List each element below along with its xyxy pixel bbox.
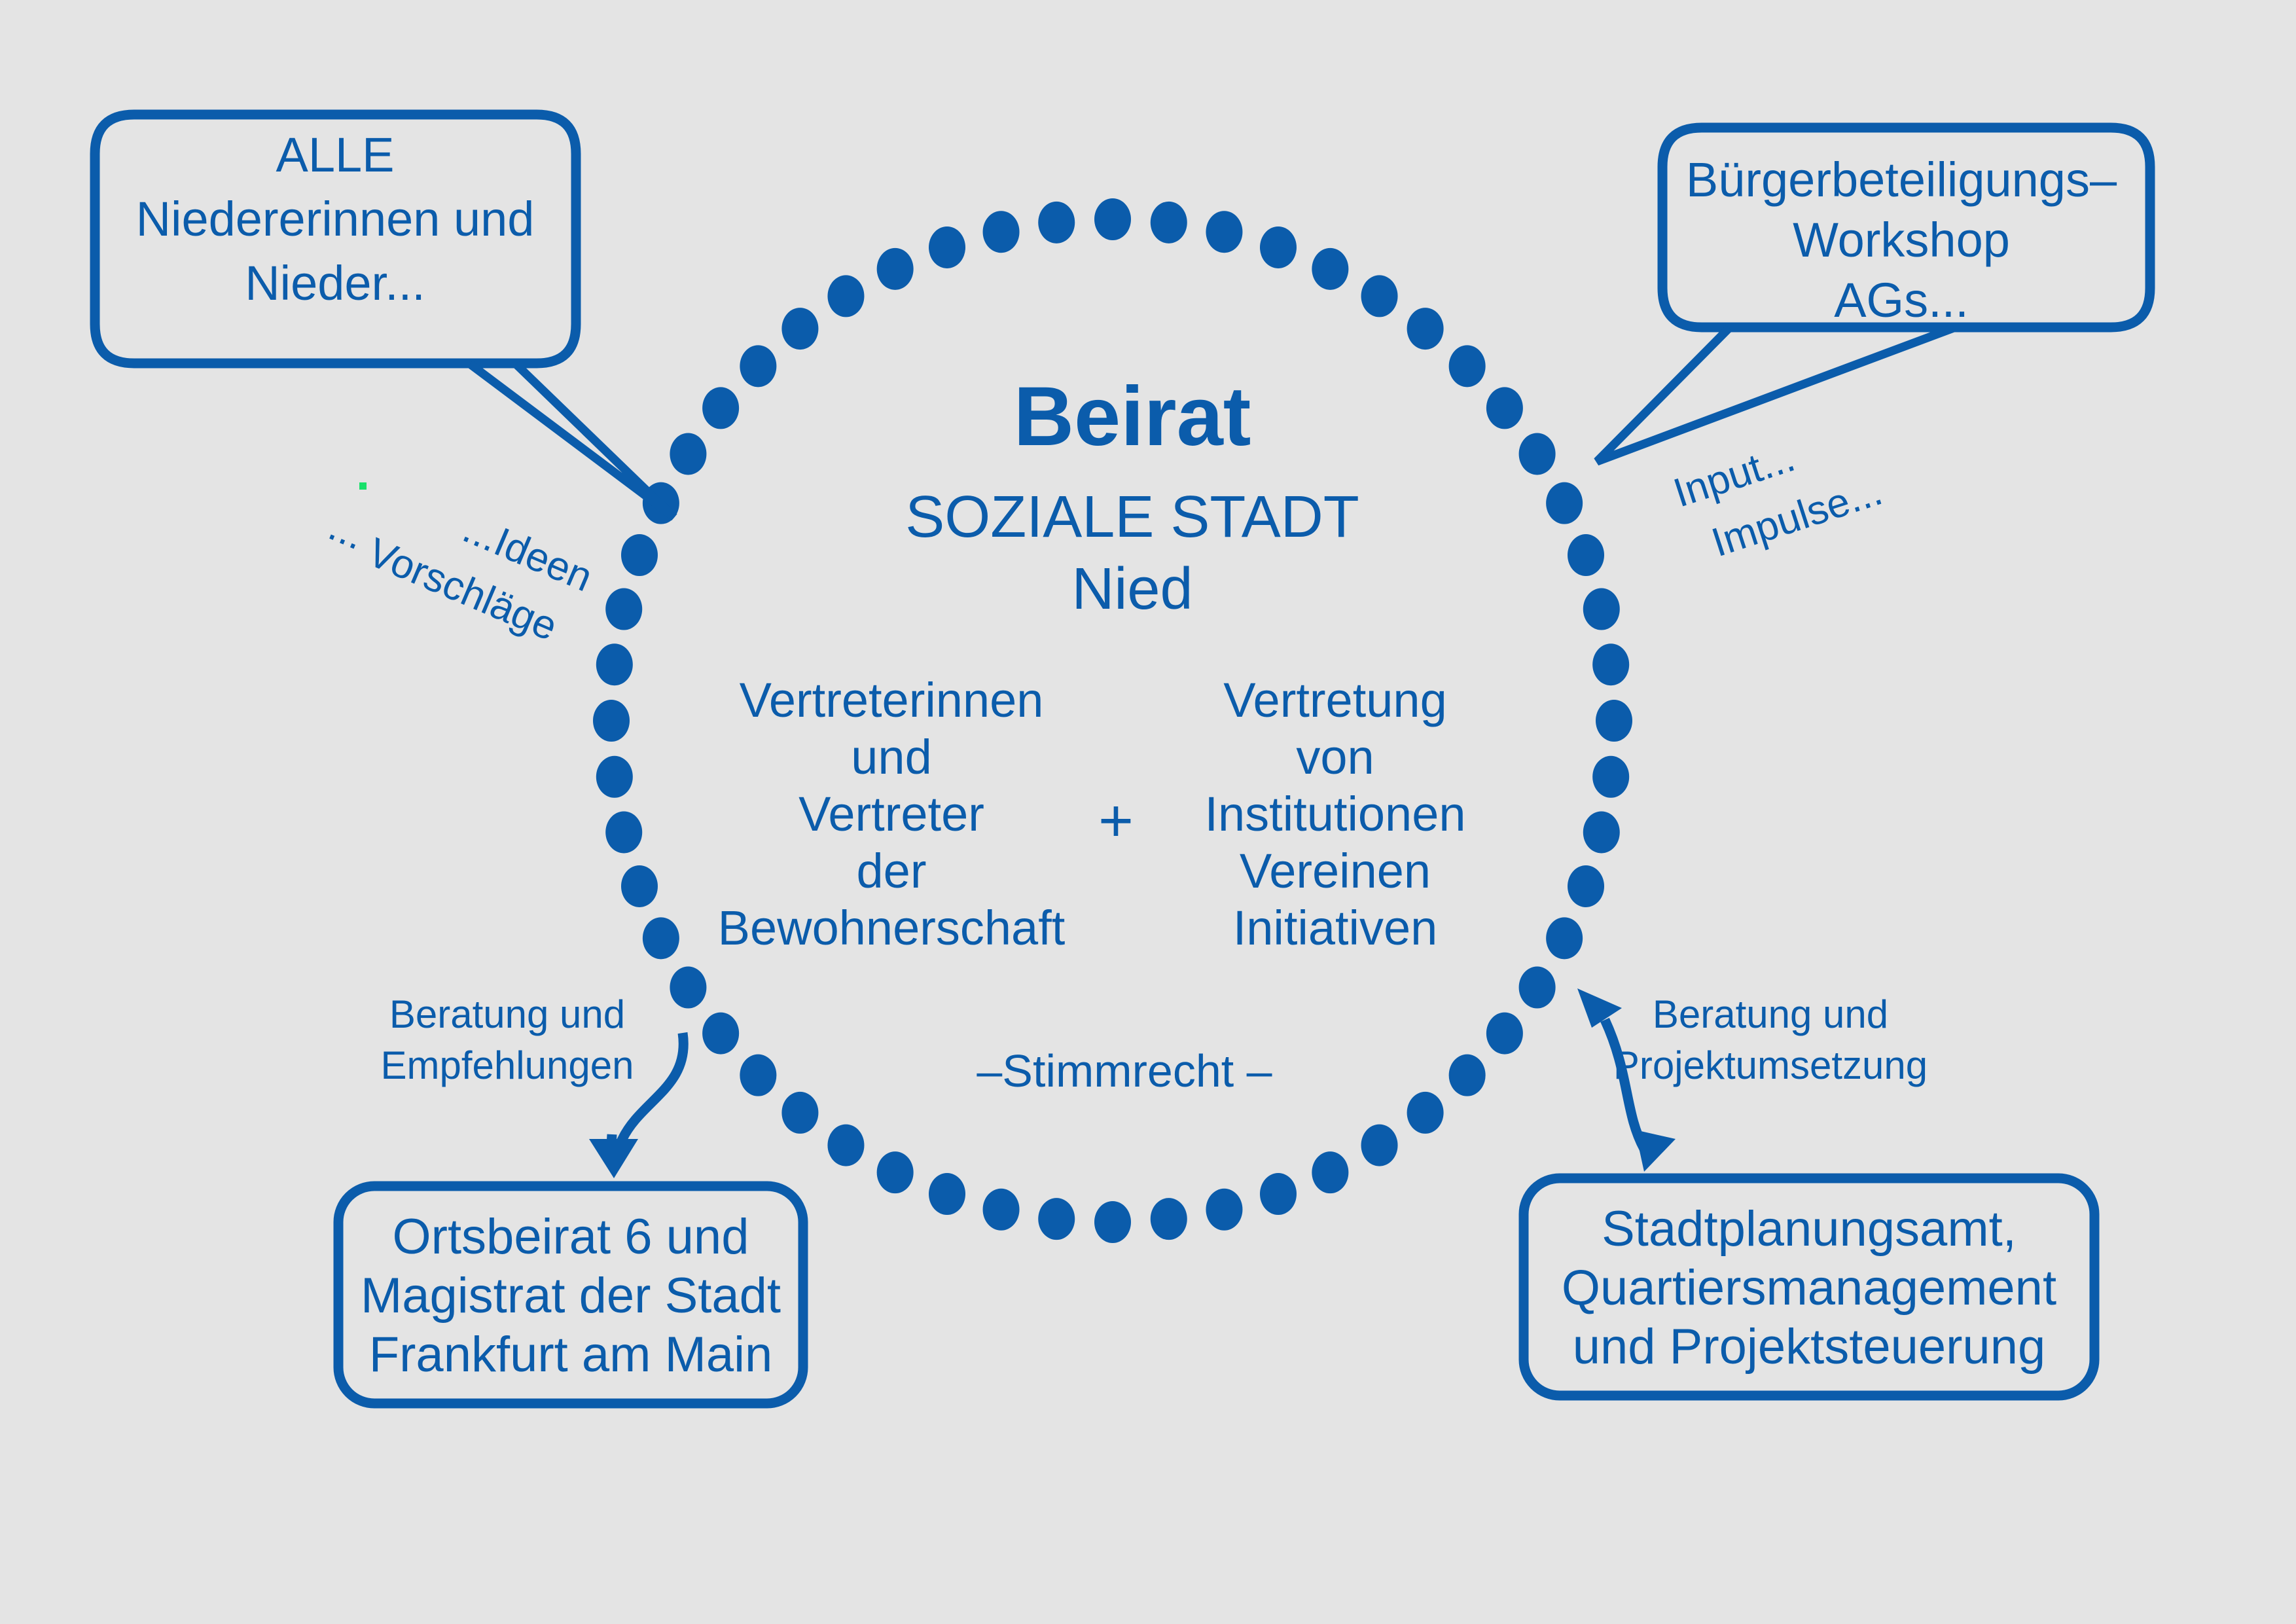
ring-dot	[1486, 387, 1523, 429]
edge-label-beratung-empfehlungen: Beratung und Empfehlungen	[381, 992, 634, 1087]
ring-dot	[1486, 1013, 1523, 1055]
ring-dot	[1583, 588, 1620, 630]
arrow-head-down-right	[1635, 1130, 1676, 1172]
edge-label-beratung-projektumsetzung: Beratung und Projektumsetzung	[1613, 992, 1928, 1087]
ring-dot	[1519, 433, 1556, 475]
ring-dot	[605, 588, 642, 630]
edge-label-line: Empfehlungen	[381, 1043, 634, 1087]
box-bottom-left[interactable]: Ortsbeirat 6 und Magistrat der Stadt Fra…	[338, 1186, 803, 1403]
left-col-line: Vertreterinnen	[740, 673, 1044, 727]
edge-label-prefix-dots: ...	[323, 504, 372, 559]
ring-dot	[702, 387, 739, 429]
edge-label-line: Projektumsetzung	[1613, 1043, 1928, 1087]
ring-dot	[670, 967, 706, 1009]
ring-dot	[1038, 1198, 1075, 1240]
left-col-line: Bewohnerschaft	[718, 901, 1066, 955]
bubble-line: Niedererinnen und	[136, 192, 535, 246]
arrow-head-up-left	[1577, 988, 1622, 1028]
ring-dot	[1312, 1151, 1348, 1193]
bubble-tail-top-left	[470, 364, 674, 517]
ring-dot	[1407, 1092, 1444, 1134]
box-line: Magistrat der Stadt	[361, 1268, 781, 1324]
ring-dot	[740, 1055, 776, 1096]
ring-dot	[781, 1092, 818, 1134]
subtitle-line-1: SOZIALE STADT	[905, 484, 1359, 550]
ring-dot	[1094, 1201, 1131, 1243]
ring-dot	[621, 865, 658, 907]
ring-dot	[1596, 700, 1632, 742]
ring-dot	[1151, 202, 1187, 244]
stimmrecht-note: –Stimmrecht –	[977, 1045, 1272, 1096]
ring-dot	[1546, 917, 1583, 959]
ring-dot	[1151, 1198, 1187, 1240]
ring-dot	[1260, 226, 1297, 268]
beirat-diagram: ALLE Niedererinnen und Nieder... Bürgerb…	[0, 0, 2296, 1624]
ring-dot	[1260, 1173, 1297, 1215]
subtitle-line-2: Nied	[1071, 556, 1193, 622]
ring-dot	[740, 345, 776, 387]
ring-dot	[1449, 1055, 1486, 1096]
ring-dot	[877, 248, 914, 290]
ring-dot	[596, 756, 633, 798]
ring-dot	[1592, 643, 1629, 685]
box-line: Ortsbeirat 6 und	[393, 1209, 749, 1265]
ring-dot	[702, 1013, 739, 1055]
right-col-line: Vereinen	[1240, 844, 1431, 898]
plus-sign: +	[1098, 787, 1134, 854]
ring-dot	[1519, 967, 1556, 1009]
left-col-line: und	[851, 730, 931, 784]
box-line: Quartiersmanagement	[1562, 1260, 2056, 1316]
bubble-text-top-right: Bürgerbeteiligungs– Workshop AGs...	[1686, 153, 2117, 327]
ring-dot	[1094, 198, 1131, 240]
center-left-column: Vertreterinnen und Vertreter der Bewohne…	[718, 673, 1066, 955]
ring-dot	[827, 275, 864, 317]
bubble-line: Nieder...	[245, 256, 425, 310]
center-right-column: Vertretung von Institutionen Vereinen In…	[1204, 673, 1465, 955]
ring-dot	[1583, 811, 1620, 853]
diagram-canvas: ALLE Niedererinnen und Nieder... Bürgerb…	[0, 0, 2296, 1624]
left-col-line: der	[857, 844, 927, 898]
ring-dot	[643, 917, 679, 959]
right-col-line: von	[1296, 730, 1374, 784]
ring-dot	[1592, 756, 1629, 798]
ring-dot	[1568, 534, 1604, 576]
bubble-line: AGs...	[1834, 273, 1969, 327]
box-line: Stadtplanungsamt,	[1602, 1201, 2017, 1257]
ring-dot	[827, 1125, 864, 1166]
ring-dot	[1206, 1189, 1242, 1231]
page-title: Beirat	[1014, 370, 1251, 463]
ring-dot	[1361, 1125, 1398, 1166]
bubble-line: Workshop	[1793, 213, 2010, 267]
ring-dot	[596, 643, 633, 685]
ring-dot	[1546, 482, 1583, 524]
ring-dot	[621, 534, 658, 576]
box-bottom-right[interactable]: Stadtplanungsamt, Quartiersmanagement un…	[1524, 1178, 2094, 1396]
ring-dot	[983, 1189, 1020, 1231]
ring-dot	[1361, 275, 1398, 317]
edge-label-input-impulse: Input... Impulse...	[1668, 412, 1888, 572]
box-line: und Projektsteuerung	[1573, 1319, 2045, 1375]
left-col-line: Vertreter	[798, 787, 984, 841]
ring-dot	[1407, 308, 1444, 350]
ring-dot	[1206, 211, 1242, 253]
edge-label-line: Beratung und	[1653, 992, 1888, 1036]
ring-dot	[1449, 345, 1486, 387]
bubble-line: ALLE	[276, 128, 394, 182]
ring-dot	[929, 226, 965, 268]
ring-dot	[781, 308, 818, 350]
ring-dot	[605, 811, 642, 853]
right-col-line: Vertretung	[1223, 673, 1446, 727]
right-col-line: Initiativen	[1233, 901, 1438, 955]
ring-dot	[983, 211, 1020, 253]
ring-dot	[877, 1151, 914, 1193]
ring-dot	[670, 433, 706, 475]
box-line: Frankfurt am Main	[369, 1327, 773, 1382]
arrow-head-down	[589, 1139, 638, 1178]
right-col-line: Institutionen	[1204, 787, 1465, 841]
ring-dot	[929, 1173, 965, 1215]
ring-dot	[1568, 865, 1604, 907]
green-speck-artifact	[359, 482, 367, 490]
bubble-text-top-left: ALLE Niedererinnen und Nieder...	[136, 128, 535, 310]
bubble-line: Bürgerbeteiligungs–	[1686, 153, 2117, 207]
edge-label-line: Beratung und	[389, 992, 625, 1036]
ring-dot	[593, 700, 630, 742]
ring-dot	[1038, 202, 1075, 244]
ring-dot	[1312, 248, 1348, 290]
